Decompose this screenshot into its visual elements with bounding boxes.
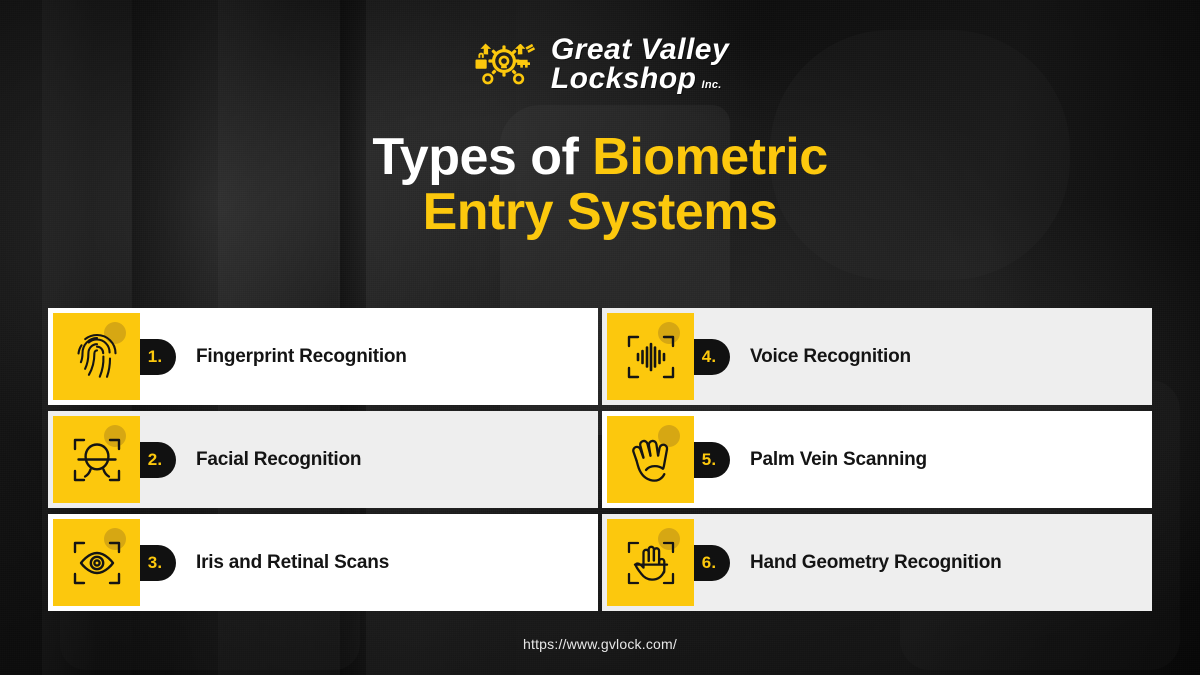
brand-wordmark: Great Valley Lockshop Inc. [551,35,729,94]
brand-name-lockshop: Lockshop [551,64,697,93]
page-title-biometric: Biometric [592,128,827,186]
item-label: Hand Geometry Recognition [750,552,1002,574]
list-item[interactable]: 5. Palm Vein Scanning [602,411,1152,508]
list-item[interactable]: 1. Fingerprint Recognition [48,308,598,405]
infographic-page: Great Valley Lockshop Inc. Types of Biom… [0,0,1200,675]
hand-scan-icon [622,534,680,592]
footer-url[interactable]: https://www.gvlock.com/ [0,636,1200,652]
icon-tile [607,519,694,606]
item-label: Voice Recognition [750,346,911,368]
icon-tile [607,416,694,503]
open-hand-icon [623,431,679,489]
page-title-line-2: Entry Systems [0,185,1200,240]
icon-tile [607,313,694,400]
page-title-types-of: Types of [372,128,592,186]
item-label: Iris and Retinal Scans [196,552,389,574]
voice-wave-scan-icon [622,328,680,386]
lock-gear-keys-icon [471,38,537,90]
list-item[interactable]: 2. Facial Recognition [48,411,598,508]
fingerprint-icon [69,329,125,385]
list-item[interactable]: 4. Voice Recognition [602,308,1152,405]
icon-tile [53,313,140,400]
biometric-types-list: 1. Fingerprint Recognition [48,308,1152,611]
page-title: Types of Biometric Entry Systems [0,130,1200,239]
item-label: Facial Recognition [196,449,361,471]
item-label: Palm Vein Scanning [750,449,927,471]
list-item[interactable]: 3. Iris and Retinal Scans [48,514,598,611]
item-label: Fingerprint Recognition [196,346,407,368]
eye-scan-icon [68,534,126,592]
brand-name-line-2: Lockshop Inc. [551,64,729,93]
face-scan-icon [68,431,126,489]
page-title-line-1: Types of Biometric [0,130,1200,185]
brand-logo: Great Valley Lockshop Inc. [0,28,1200,100]
list-item[interactable]: 6. Hand Geometry Recognition [602,514,1152,611]
icon-tile [53,416,140,503]
brand-name-line-1: Great Valley [551,35,729,64]
icon-tile [53,519,140,606]
brand-suffix-inc: Inc. [702,80,722,94]
